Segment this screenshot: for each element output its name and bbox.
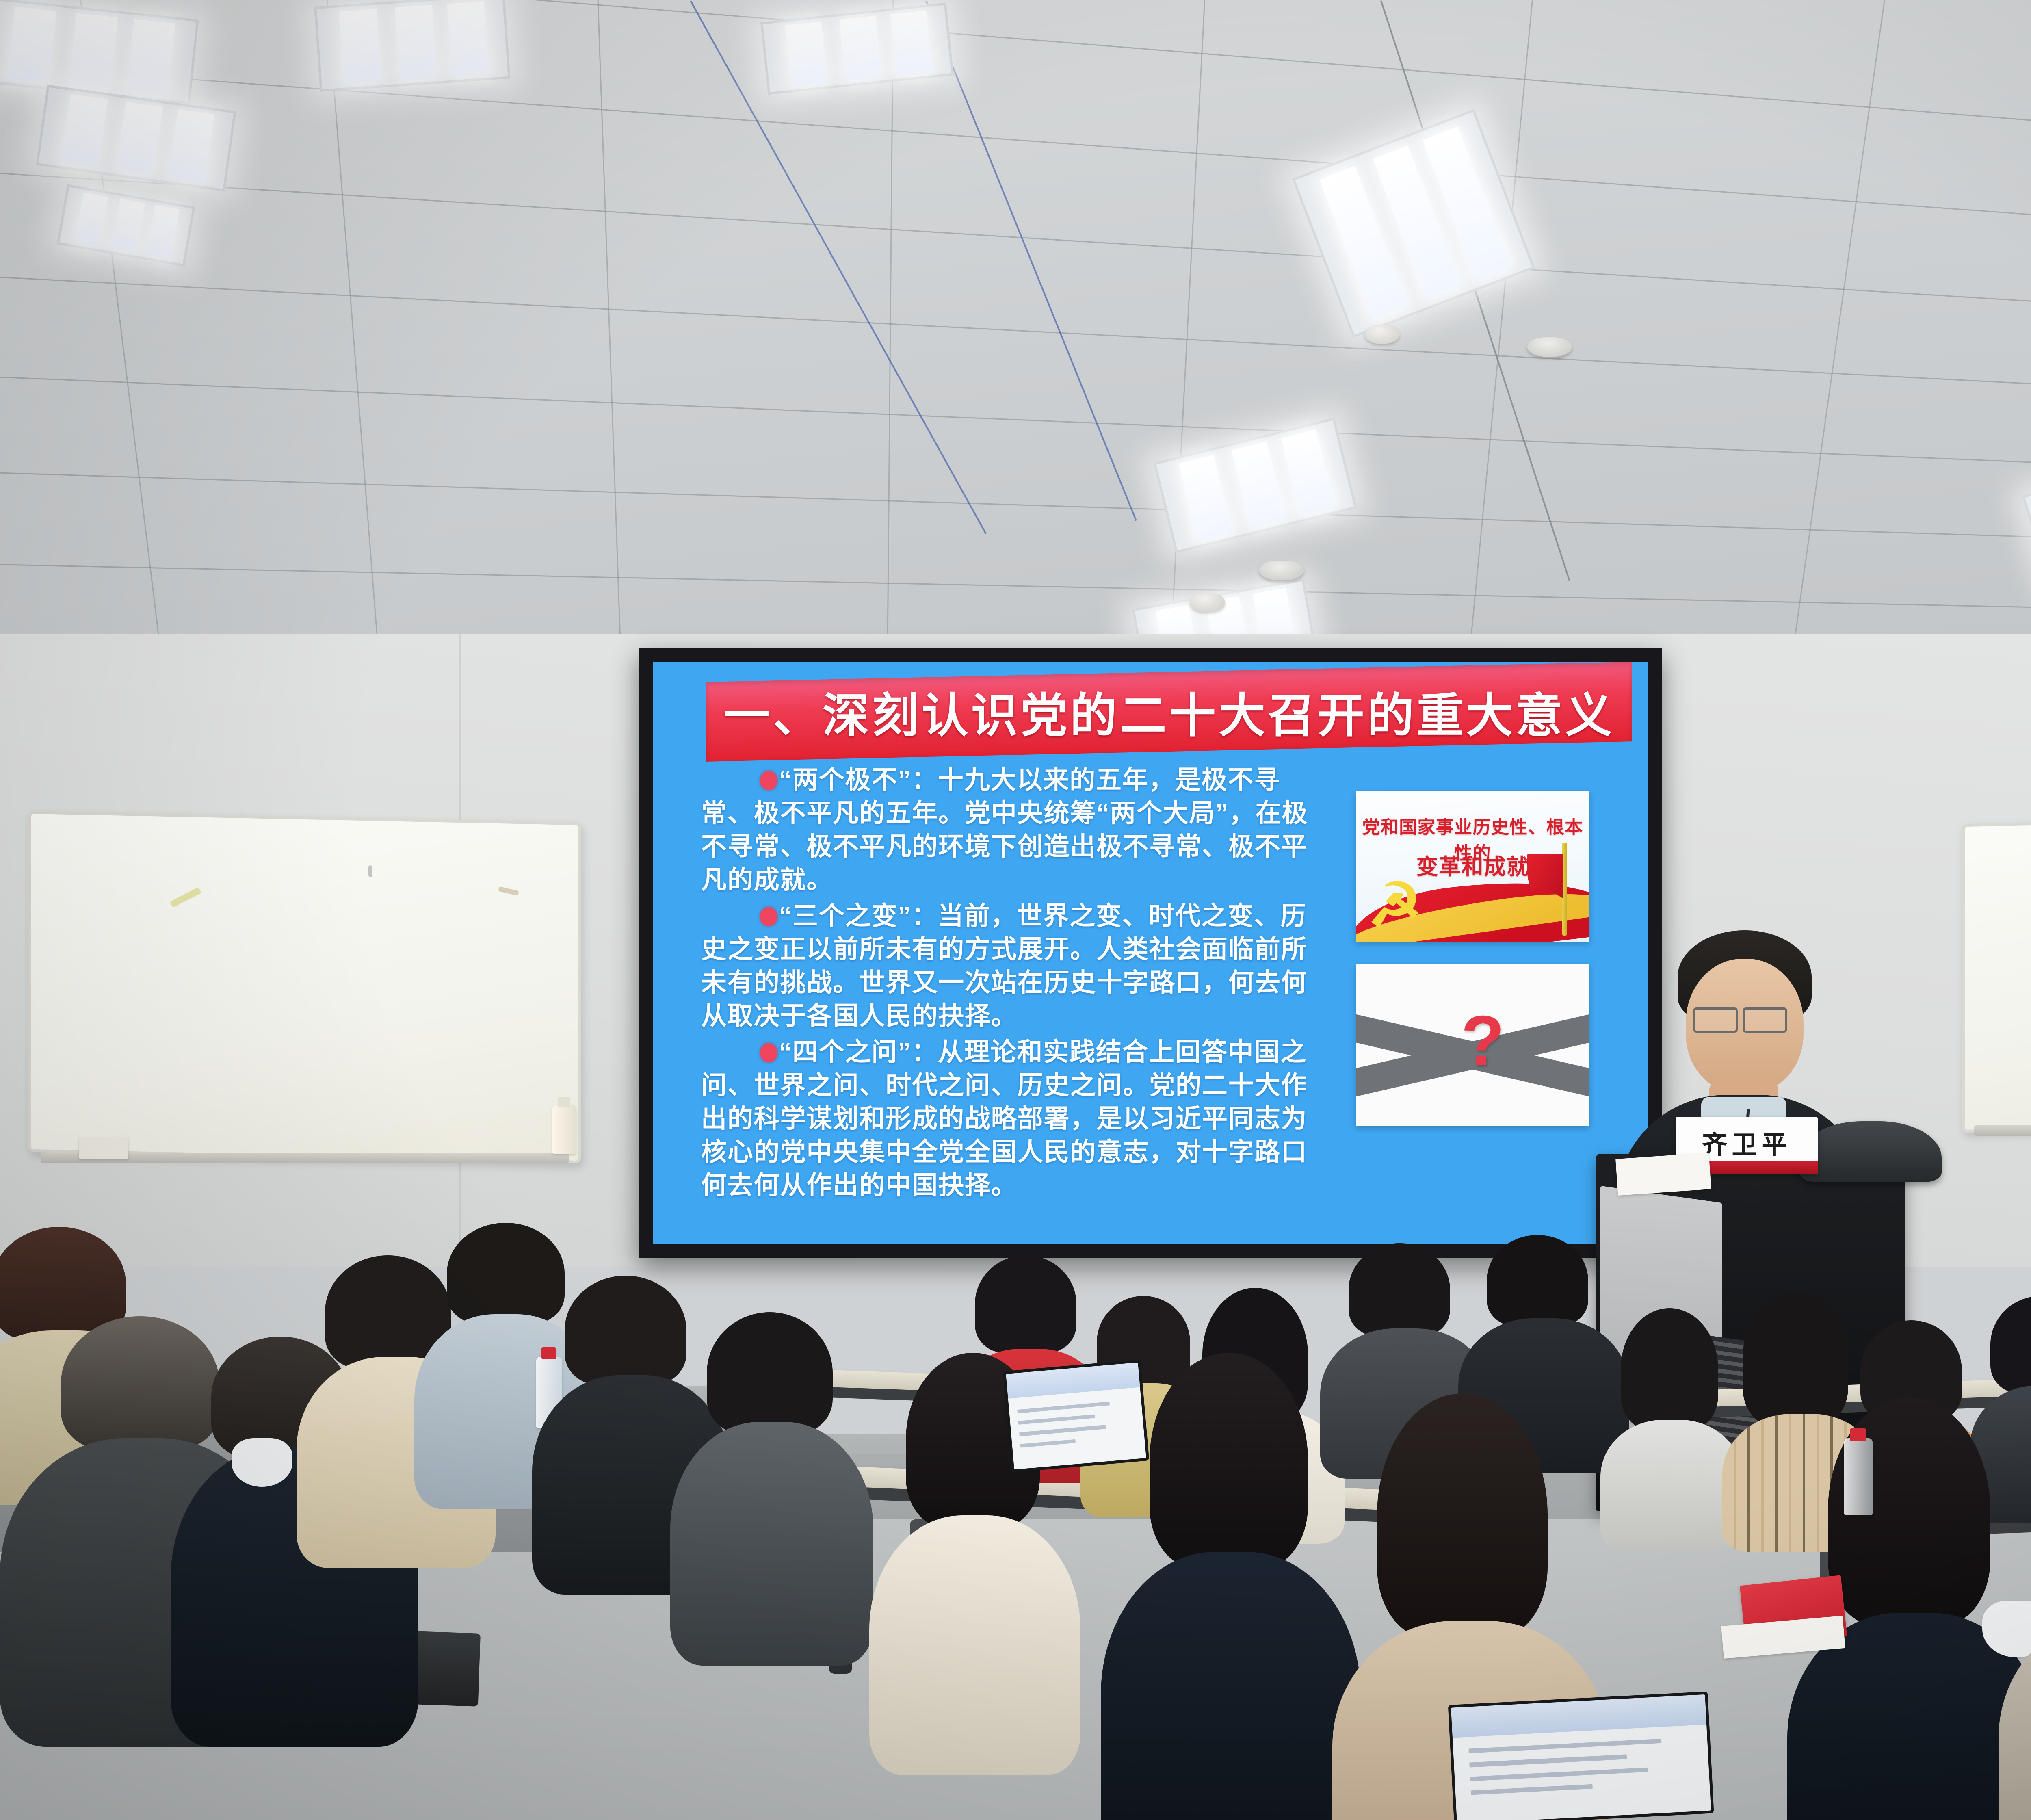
- ceiling-speaker: [1259, 561, 1304, 580]
- face-mask: [232, 1438, 292, 1487]
- slide-paragraph: “三个之变”：当前，世界之变、时代之变、历史之变正以前所未有的方式展开。人类社会…: [701, 900, 1314, 1033]
- audience-member: [682, 1312, 857, 1621]
- eyeglasses-icon: [1743, 1007, 1787, 1033]
- bullet-dot-icon: [760, 771, 777, 790]
- speaker-name-text: 齐卫平: [1702, 1124, 1791, 1161]
- water-bottle: [1844, 1438, 1873, 1515]
- attendee-laptop[interactable]: [1448, 1692, 1714, 1820]
- ceiling: [0, 0, 2031, 666]
- audience-member: [2015, 1418, 2031, 1820]
- lecture-hall-photo: 一、深刻认识党的二十大召开的重大意义 “两个极不”：十九大以来的五年，是极不寻常…: [0, 0, 2031, 1820]
- bullet-dot-icon: [760, 1043, 777, 1062]
- slide-inset-crossroads: ?: [1356, 964, 1589, 1126]
- poster-line-2: 变革和成就: [1356, 849, 1589, 881]
- slide-paragraph: “两个极不”：十九大以来的五年，是极不寻常、极不平凡的五年。党中央统筹“两个大局…: [701, 764, 1314, 897]
- recessed-led-panel: [314, 0, 511, 92]
- eyeglasses-icon: [1693, 1007, 1738, 1033]
- lectern-control-monitor: [1799, 1121, 1942, 1182]
- audience-member: [1121, 1353, 1332, 1820]
- smoke-detector: [1365, 325, 1400, 344]
- audience-member: [1609, 1308, 1730, 1483]
- slide-title: 一、深刻认识党的二十大召开的重大意义: [723, 678, 1615, 745]
- projected-slide: 一、深刻认识党的二十大召开的重大意义 “两个极不”：十九大以来的五年，是极不寻常…: [653, 662, 1648, 1244]
- question-mark-icon: ?: [1461, 1009, 1505, 1073]
- whiteboard-eraser: [79, 1137, 128, 1159]
- ceiling-tile-grid: [0, 0, 2031, 666]
- whiteboard-right: [1962, 817, 2031, 1133]
- ceiling-speaker: [1527, 337, 1572, 357]
- slide-inset-poster: ☭ 党和国家事业历史性、根本性的 变革和成就: [1356, 791, 1589, 942]
- bottle-cap: [1850, 1428, 1866, 1441]
- slide-paragraph: “四个之问”：从理论和实践结合上回答中国之问、世界之问、时代之问、历史之问。党的…: [701, 1036, 1314, 1202]
- whiteboard-marker-tray: [1974, 1125, 2031, 1136]
- bullet-dot-icon: [760, 907, 777, 926]
- party-emblem-icon: ☭: [1368, 875, 1422, 936]
- smoke-detector: [1190, 593, 1225, 612]
- whiteboard-left: [28, 811, 581, 1163]
- lectern-papers: [1615, 1153, 1711, 1196]
- sanitizer-bottle: [552, 1105, 576, 1154]
- projection-screen-frame: 一、深刻认识党的二十大召开的重大意义 “两个极不”：十九大以来的五年，是极不寻常…: [639, 648, 1662, 1258]
- slide-title-bar: 一、深刻认识党的二十大召开的重大意义: [706, 662, 1632, 762]
- slide-body-text: “两个极不”：十九大以来的五年，是极不寻常、极不平凡的五年。党中央统筹“两个大局…: [701, 764, 1314, 1205]
- bottle-cap: [558, 1097, 570, 1107]
